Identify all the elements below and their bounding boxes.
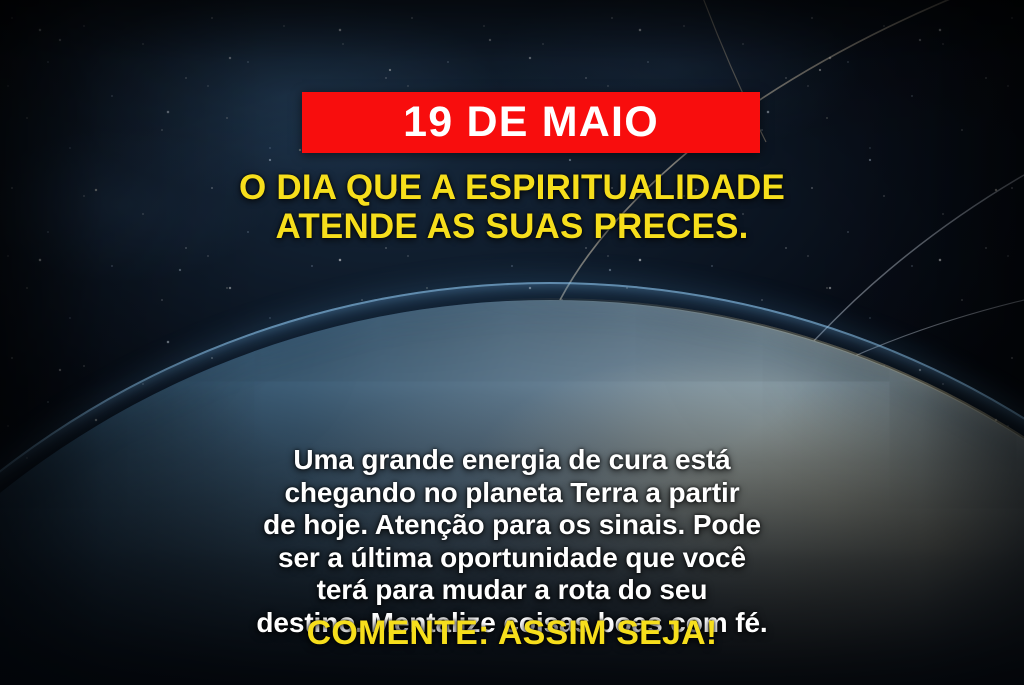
body-line-2: chegando no planeta Terra a partir <box>48 477 976 510</box>
date-badge-label: 19 DE MAIO <box>403 101 659 144</box>
body-copy: Uma grande energia de cura está chegando… <box>0 444 1024 640</box>
body-line-4: ser a última oportunidade que você <box>48 542 976 575</box>
poster-canvas: 19 DE MAIO O DIA QUE A ESPIRITUALIDADE A… <box>0 0 1024 685</box>
body-line-5: terá para mudar a rota do seu <box>48 574 976 607</box>
headline: O DIA QUE A ESPIRITUALIDADE ATENDE AS SU… <box>0 168 1024 246</box>
body-line-1: Uma grande energia de cura está <box>48 444 976 477</box>
call-to-action: COMENTE: ASSIM SEJA! <box>0 616 1024 650</box>
poster-content: 19 DE MAIO O DIA QUE A ESPIRITUALIDADE A… <box>0 0 1024 685</box>
date-badge: 19 DE MAIO <box>302 92 760 153</box>
headline-line-2: ATENDE AS SUAS PRECES. <box>60 207 964 246</box>
body-line-3: de hoje. Atenção para os sinais. Pode <box>48 509 976 542</box>
headline-line-1: O DIA QUE A ESPIRITUALIDADE <box>60 168 964 207</box>
